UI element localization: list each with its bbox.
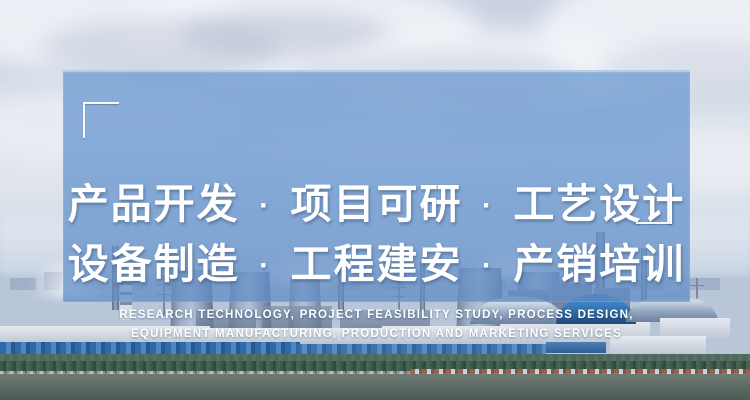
headline-line-2: 设备制造 · 工程建安 · 产销培训 — [63, 244, 690, 285]
foreground-ground — [0, 374, 750, 400]
separator-dot: · — [476, 249, 500, 282]
corner-bracket-bottom-right-icon — [636, 188, 672, 224]
headline-segment: 产销培训 — [513, 241, 685, 287]
separator-dot: · — [253, 249, 277, 282]
headline-segment: 设备制造 — [68, 241, 240, 287]
headline-segment: 项目可研 — [291, 181, 463, 227]
blue-roof-row — [296, 344, 546, 354]
separator-dot: · — [476, 189, 500, 222]
headline-line-1: 产品开发 · 项目可研 · 工艺设计 — [63, 184, 690, 225]
headline-overlay-panel: 产品开发 · 项目可研 · 工艺设计 设备制造 · 工程建安 · 产销培训 RE… — [63, 70, 690, 302]
promotional-banner: 产品开发 · 项目可研 · 工艺设计 设备制造 · 工程建安 · 产销培训 RE… — [0, 0, 750, 400]
headline-segment: 工程建安 — [291, 241, 463, 287]
headline-segment: 产品开发 — [68, 181, 240, 227]
corner-bracket-top-left-icon — [83, 102, 119, 138]
separator-dot: · — [253, 189, 277, 222]
subtitle-text: RESEARCH TECHNOLOGY, PROJECT FEASIBILITY… — [109, 306, 644, 344]
warehouse-wall — [660, 318, 730, 338]
